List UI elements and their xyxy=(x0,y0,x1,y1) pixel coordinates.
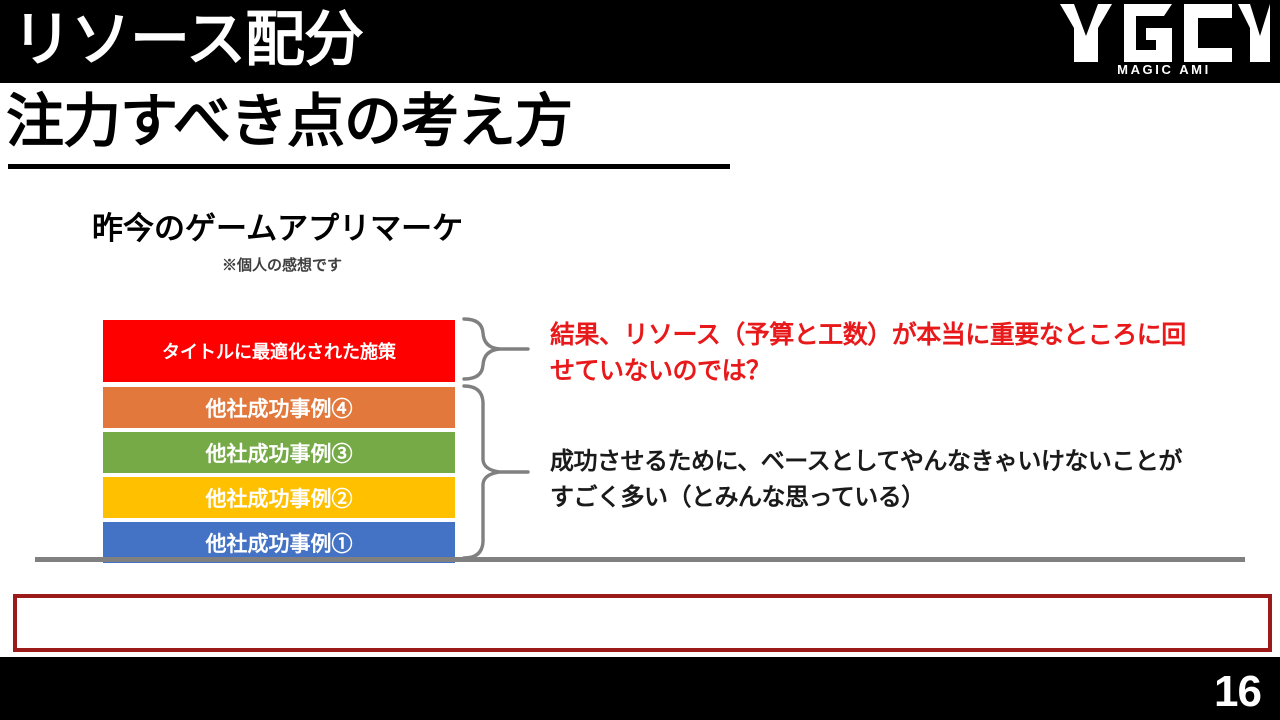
bar-label: 他社成功事例② xyxy=(206,483,353,513)
slide: リソース配分 MAGIC AMI 注力すべき点の考え方 昨今のゲームアプリマーケ… xyxy=(0,0,1280,720)
page-title: リソース配分 xyxy=(12,2,363,78)
note-box xyxy=(13,594,1272,652)
bar-label: 他社成功事例① xyxy=(206,528,353,558)
bar-segment-optimized-measures: タイトルに最適化された施策 xyxy=(103,320,455,382)
brace-bottom-segments xyxy=(462,382,532,562)
brace-top-segment xyxy=(462,315,532,387)
callout-red-text: 結果、リソース（予算と工数）が本当に重要なところに回せていないのでは？ xyxy=(550,317,1190,389)
slide-subtitle: 注力すべき点の考え方 xyxy=(6,86,572,158)
bar-segment-case-4: 他社成功事例④ xyxy=(103,387,455,428)
bar-label: 他社成功事例③ xyxy=(206,438,353,468)
section-heading: 昨今のゲームアプリマーケ xyxy=(92,203,463,248)
callout-black-text: 成功させるために、ベースとしてやんなきゃいけないことがすごく多い（とみんな思って… xyxy=(550,444,1200,516)
chart-baseline xyxy=(35,557,1245,562)
logo-wordmark: MAGIC AMI xyxy=(1117,62,1211,77)
bar-segment-case-3: 他社成功事例③ xyxy=(103,432,455,473)
mgcm-logo: MAGIC AMI xyxy=(1052,2,1272,78)
footer-bar xyxy=(0,657,1280,720)
subtitle-underline xyxy=(8,164,730,169)
page-number: 16 xyxy=(1214,667,1261,717)
note-box-text xyxy=(17,598,1268,610)
bar-label: タイトルに最適化された施策 xyxy=(162,338,396,364)
bar-segment-case-2: 他社成功事例② xyxy=(103,477,455,518)
section-note: ※個人の感想です xyxy=(222,254,342,275)
bar-label: 他社成功事例④ xyxy=(206,393,353,423)
